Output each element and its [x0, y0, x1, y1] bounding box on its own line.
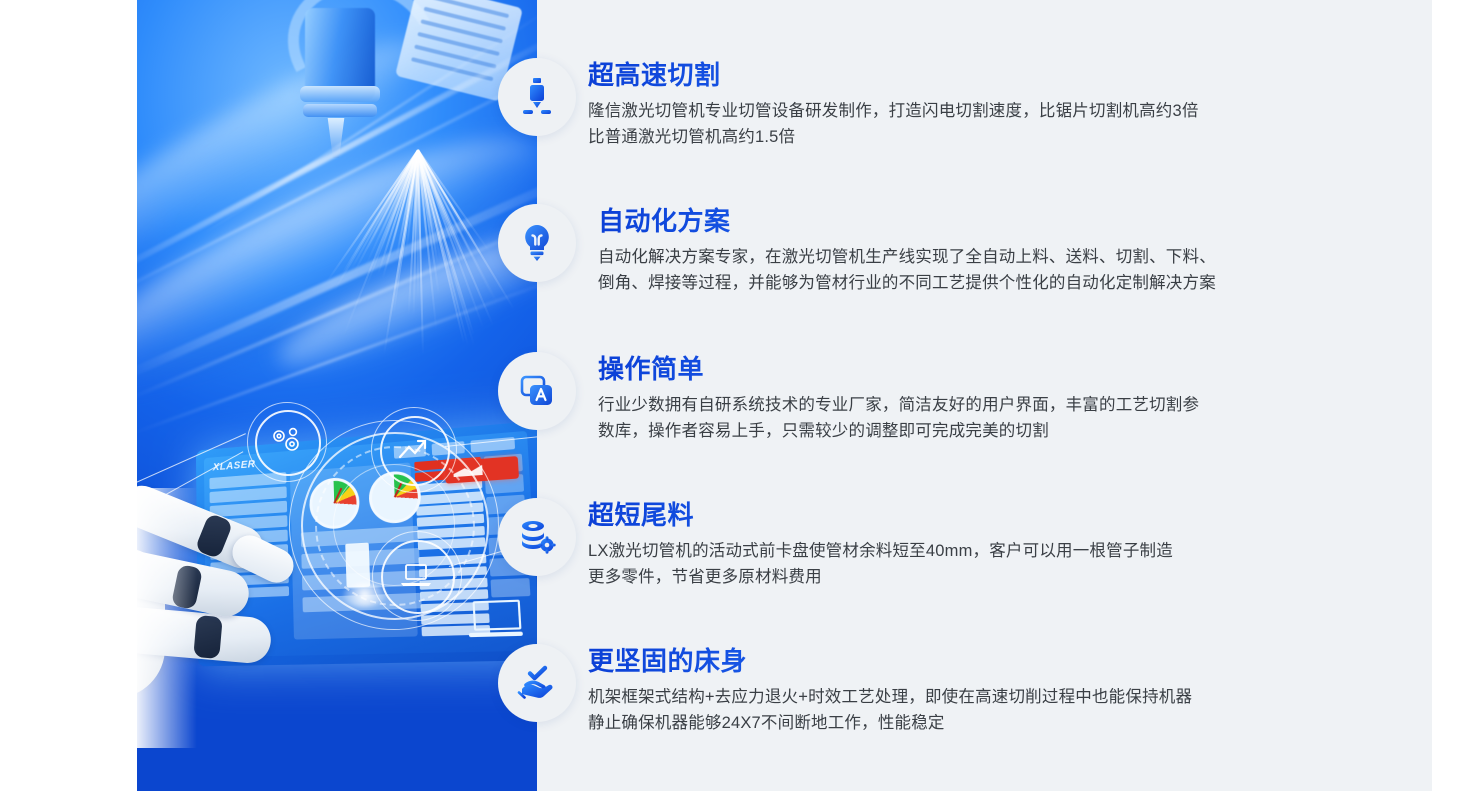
feature-icon-wrap: [498, 204, 576, 282]
feature-description: 机架框架式结构+去应力退火+时效工艺处理，即使在高速切削过程中也能保持机器 静止…: [588, 684, 1192, 737]
feature-description: 行业少数拥有自研系统技术的专业厂家，简洁友好的用户界面，丰富的工艺切割参 数库，…: [598, 392, 1199, 445]
feature-icon-wrap: [498, 498, 576, 576]
feature-item-stronger-machine-bed[interactable]: 更坚固的床身 机架框架式结构+去应力退火+时效工艺处理，即使在高速切削过程中也能…: [498, 644, 1192, 737]
feature-list: 超高速切割 隆信激光切管机专业切管设备研发制作，打造闪电切割速度，比锯片切割机高…: [0, 0, 1480, 791]
feature-description: 隆信激光切管机专业切管设备研发制作，打造闪电切割速度，比锯片切割机高约3倍 比普…: [588, 98, 1199, 151]
feature-icon-wrap: [498, 58, 576, 136]
hand-check-icon: [498, 644, 576, 722]
feature-description: LX激光切管机的活动式前卡盘使管材余料短至40mm，客户可以用一根管子制造 更多…: [588, 538, 1173, 591]
laser-cutting-head-icon: [498, 58, 576, 136]
feature-icon-wrap: [498, 644, 576, 722]
feature-title: 更坚固的床身: [588, 646, 1192, 677]
feature-icon-wrap: [498, 352, 576, 430]
feature-item-automation-solution[interactable]: 自动化方案 自动化解决方案专家，在激光切管机生产线实现了全自动上料、送料、切割、…: [498, 204, 1216, 297]
feature-item-ultra-high-speed-cutting[interactable]: 超高速切割 隆信激光切管机专业切管设备研发制作，打造闪电切割速度，比锯片切割机高…: [498, 58, 1199, 151]
feature-title: 超短尾料: [588, 500, 1173, 531]
feature-text: 更坚固的床身 机架框架式结构+去应力退火+时效工艺处理，即使在高速切削过程中也能…: [588, 644, 1192, 737]
feature-text: 自动化方案 自动化解决方案专家，在激光切管机生产线实现了全自动上料、送料、切割、…: [598, 204, 1216, 297]
lightbulb-icon: [498, 204, 576, 282]
database-gear-icon: [498, 498, 576, 576]
feature-title: 自动化方案: [598, 206, 1216, 237]
feature-text: 超高速切割 隆信激光切管机专业切管设备研发制作，打造闪电切割速度，比锯片切割机高…: [588, 58, 1199, 151]
feature-item-simple-operation[interactable]: 操作简单 行业少数拥有自研系统技术的专业厂家，简洁友好的用户界面，丰富的工艺切割…: [498, 352, 1199, 445]
feature-item-ultra-short-tail-material[interactable]: 超短尾料 LX激光切管机的活动式前卡盘使管材余料短至40mm，客户可以用一根管子…: [498, 498, 1173, 591]
feature-title: 超高速切割: [588, 60, 1199, 91]
feature-text: 操作简单 行业少数拥有自研系统技术的专业厂家，简洁友好的用户界面，丰富的工艺切割…: [598, 352, 1199, 445]
letter-a-card-icon: [498, 352, 576, 430]
page-root: XLASER: [0, 0, 1480, 791]
feature-title: 操作简单: [598, 354, 1199, 385]
feature-description: 自动化解决方案专家，在激光切管机生产线实现了全自动上料、送料、切割、下料、 倒角…: [598, 244, 1216, 297]
feature-text: 超短尾料 LX激光切管机的活动式前卡盘使管材余料短至40mm，客户可以用一根管子…: [588, 498, 1173, 591]
